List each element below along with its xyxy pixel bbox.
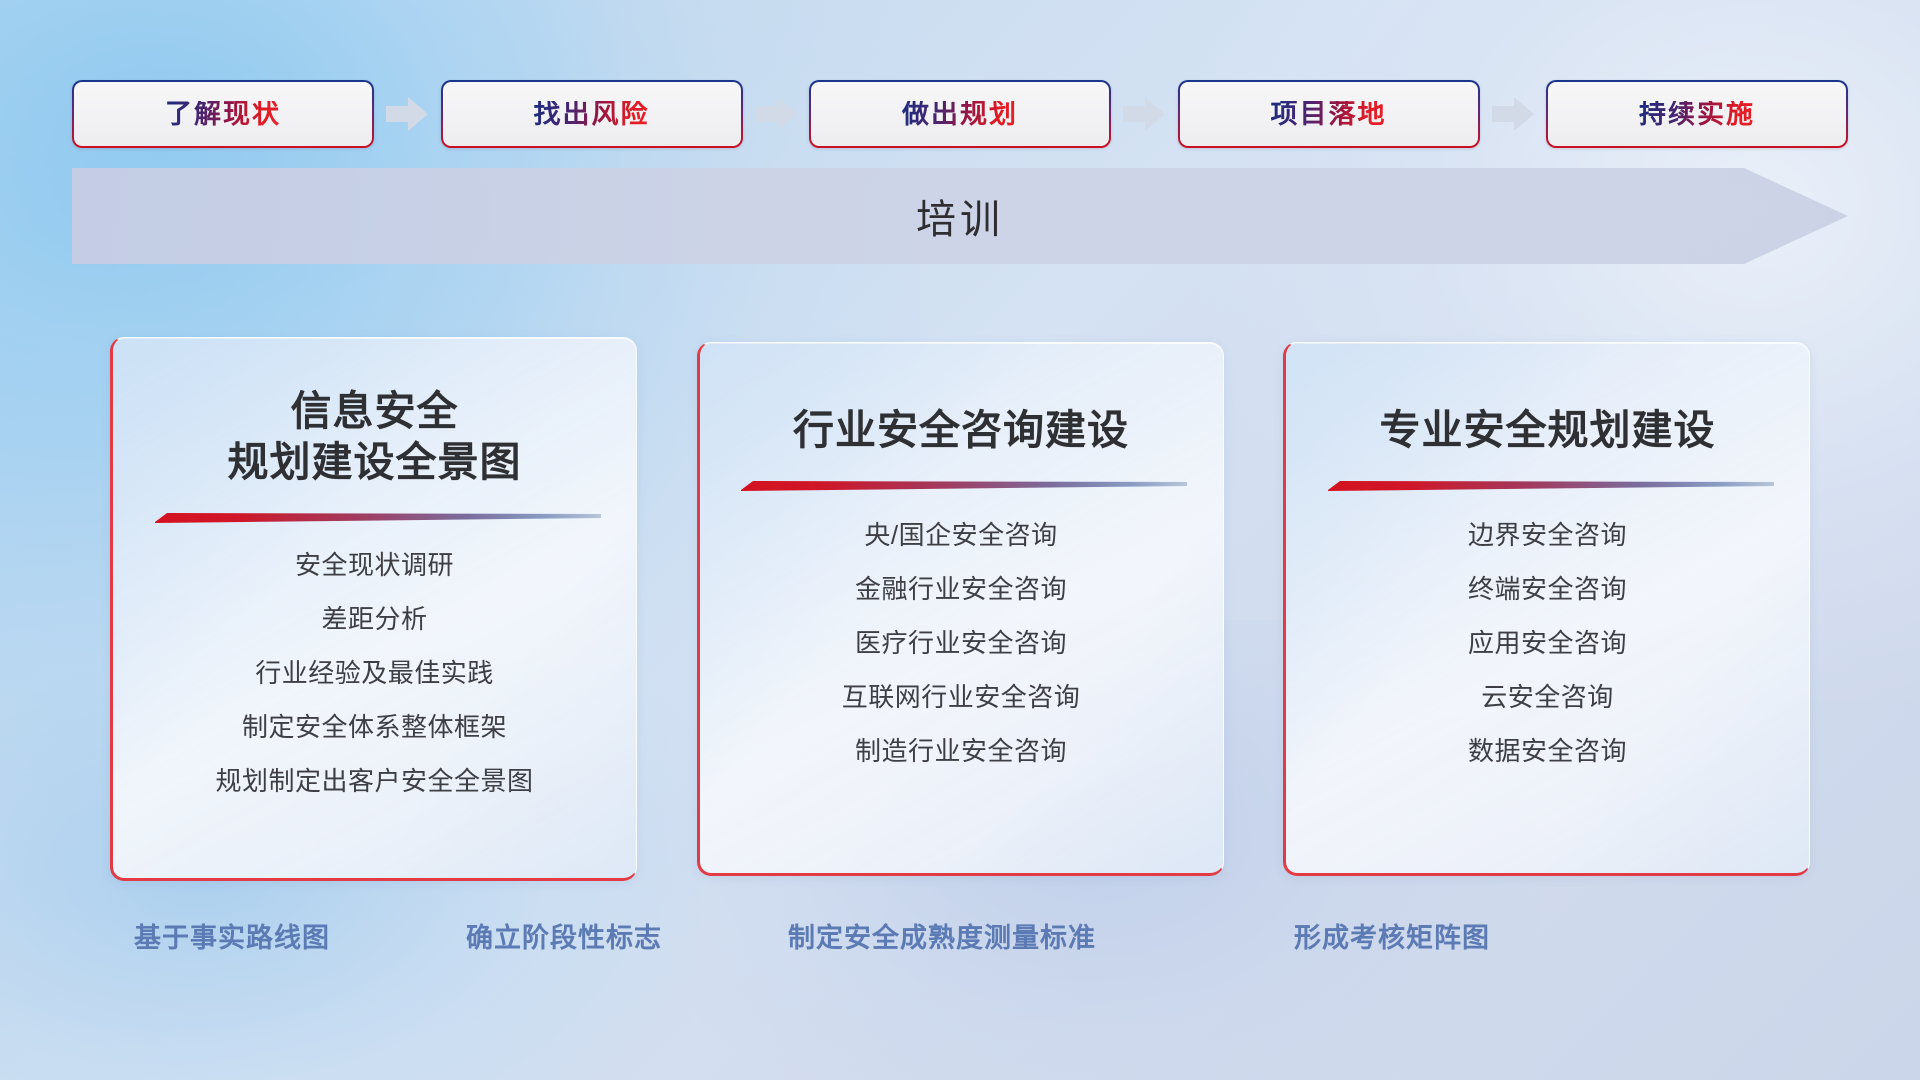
step-box-2[interactable]: 找出风险	[441, 80, 743, 148]
training-banner: 培训	[72, 168, 1848, 264]
step-box-2-inner: 找出风险	[443, 82, 741, 146]
list-item: 制定安全体系整体框架	[215, 714, 533, 740]
footer-label-4: 形成考核矩阵图	[1294, 916, 1490, 960]
card-information-security-blueprint[interactable]: 信息安全 规划建设全景图	[110, 337, 637, 881]
card-list-1: 安全现状调研 差距分析 行业经验及最佳实践 制定安全体系整体框架 规划制定出客户…	[215, 552, 533, 794]
step-label-5: 持续实施	[1639, 101, 1755, 128]
footer-label-row: 基于事实路线图 确立阶段性标志 制定安全成熟度测量标准 形成考核矩阵图	[0, 916, 1920, 960]
card-divider-2	[735, 478, 1187, 494]
step-label-2: 找出风险	[534, 101, 650, 128]
step-box-4[interactable]: 项目落地	[1178, 80, 1480, 148]
list-item: 应用安全咨询	[1468, 630, 1627, 656]
list-item: 央/国企安全咨询	[842, 522, 1081, 548]
arrow-right-icon-1	[386, 97, 428, 131]
step-box-5-inner: 持续实施	[1548, 82, 1846, 146]
list-item: 差距分析	[215, 606, 533, 632]
card-title-2: 行业安全咨询建设	[793, 405, 1129, 456]
list-item: 规划制定出客户安全全景图	[215, 768, 533, 794]
card-list-3: 边界安全咨询 终端安全咨询 应用安全咨询 云安全咨询 数据安全咨询	[1468, 522, 1627, 764]
step-label-3: 做出规划	[902, 101, 1018, 128]
card-professional-security-planning[interactable]: 专业安全规划建设	[1283, 342, 1810, 876]
card-industry-security-consulting[interactable]: 行业安全咨询建设	[697, 342, 1224, 876]
card-title-3: 专业安全规划建设	[1380, 405, 1716, 456]
step-box-1[interactable]: 了解现状	[72, 80, 374, 148]
list-item: 制造行业安全咨询	[842, 738, 1081, 764]
list-item: 医疗行业安全咨询	[842, 630, 1081, 656]
card-group: 信息安全 规划建设全景图	[110, 337, 1810, 881]
footer-label-3: 制定安全成熟度测量标准	[788, 916, 1096, 960]
list-item: 终端安全咨询	[1468, 576, 1627, 602]
list-item: 互联网行业安全咨询	[842, 684, 1081, 710]
list-item: 云安全咨询	[1468, 684, 1627, 710]
list-item: 金融行业安全咨询	[842, 576, 1081, 602]
list-item: 数据安全咨询	[1468, 738, 1627, 764]
arrow-right-icon-4	[1492, 97, 1534, 131]
list-item: 边界安全咨询	[1468, 522, 1627, 548]
arrow-right-icon-3	[1123, 97, 1165, 131]
list-item: 行业经验及最佳实践	[215, 660, 533, 686]
list-item: 安全现状调研	[215, 552, 533, 578]
step-label-1: 了解现状	[165, 101, 281, 128]
training-banner-label: 培训	[72, 168, 1848, 264]
card-list-2: 央/国企安全咨询 金融行业安全咨询 医疗行业安全咨询 互联网行业安全咨询 制造行…	[842, 522, 1081, 764]
footer-label-2: 确立阶段性标志	[466, 916, 662, 960]
footer-label-1: 基于事实路线图	[134, 916, 330, 960]
step-box-1-inner: 了解现状	[74, 82, 372, 146]
arrow-right-icon-2	[755, 97, 797, 131]
card-title-1: 信息安全 规划建设全景图	[228, 386, 522, 488]
step-box-3[interactable]: 做出规划	[809, 80, 1111, 148]
process-step-flow: 了解现状 找出风险 做出规划 项目落地	[72, 78, 1848, 150]
step-box-4-inner: 项目落地	[1180, 82, 1478, 146]
step-box-5[interactable]: 持续实施	[1546, 80, 1848, 148]
step-label-4: 项目落地	[1271, 101, 1387, 128]
card-divider-3	[1322, 478, 1774, 494]
step-box-3-inner: 做出规划	[811, 82, 1109, 146]
card-divider-1	[149, 510, 601, 526]
